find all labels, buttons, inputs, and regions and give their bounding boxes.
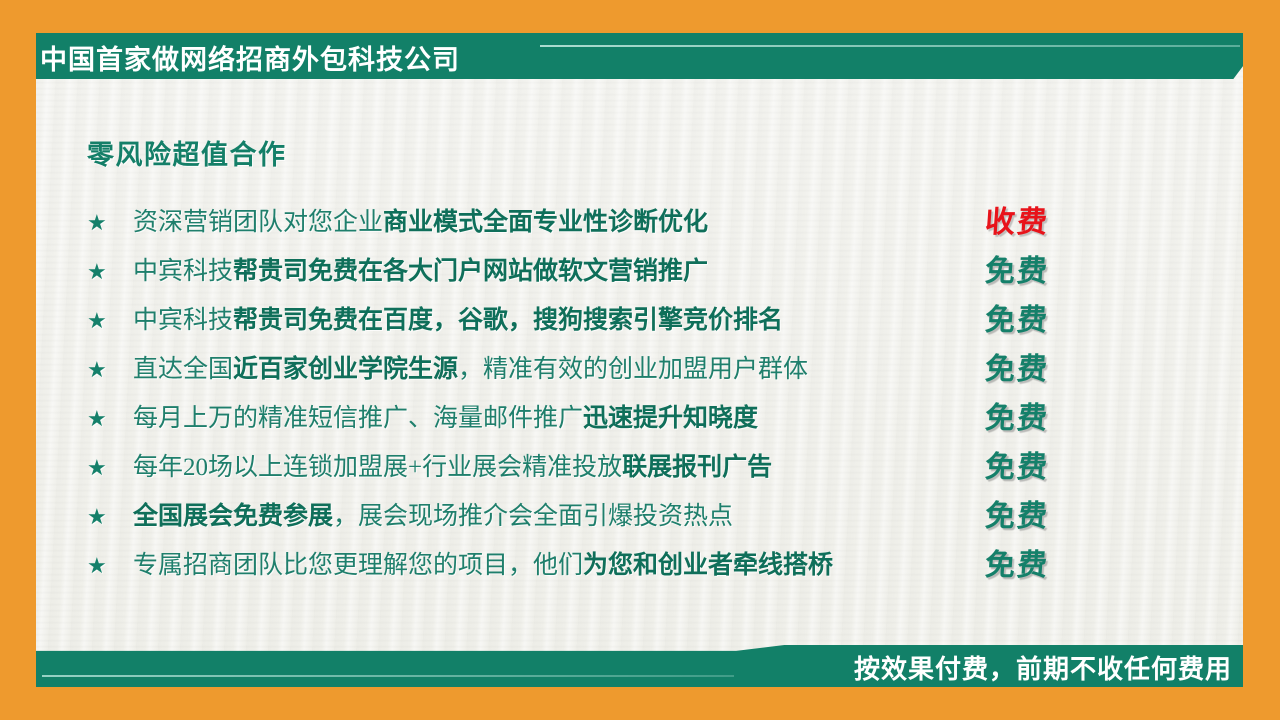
- text-normal-lead: 资深营销团队对您企业: [133, 209, 383, 236]
- text-normal-tail: ，展会现场推介会全面引爆投资热点: [333, 503, 733, 530]
- text-normal-lead: 中宾科技: [133, 258, 233, 285]
- list-item: ★专属招商团队比您更理解您的项目，他们为您和创业者牵线搭桥免费: [87, 541, 1147, 590]
- fee-badge: 免费: [941, 453, 1093, 483]
- fee-badge: 免费: [941, 355, 1093, 385]
- fee-badge: 免费: [941, 257, 1093, 287]
- text-emphasis: 为您和创业者牵线搭桥: [583, 552, 833, 579]
- list-item: ★资深营销团队对您企业商业模式全面专业性诊断优化收费: [87, 198, 1147, 247]
- benefits-list: ★资深营销团队对您企业商业模式全面专业性诊断优化收费★中宾科技帮贵司免费在各大门…: [87, 198, 1147, 590]
- list-item: ★每年20场以上连锁加盟展+行业展会精准投放联展报刊广告免费: [87, 443, 1147, 492]
- list-item: ★全国展会免费参展，展会现场推介会全面引爆投资热点免费: [87, 492, 1147, 541]
- text-normal-tail: ，精准有效的创业加盟用户群体: [458, 356, 808, 383]
- list-item: ★直达全国近百家创业学院生源，精准有效的创业加盟用户群体免费: [87, 345, 1147, 394]
- star-icon: ★: [87, 408, 133, 430]
- star-icon: ★: [87, 212, 133, 234]
- fee-badge: 收费: [941, 208, 1093, 238]
- text-emphasis: 联展报刊广告: [622, 454, 772, 481]
- fee-badge: 免费: [941, 404, 1093, 434]
- list-item: ★中宾科技帮贵司免费在各大门户网站做软文营销推广免费: [87, 247, 1147, 296]
- footer-tagline: 按效果付费，前期不收任何费用: [854, 647, 1232, 687]
- fee-badge: 免费: [941, 551, 1093, 581]
- star-icon: ★: [87, 506, 133, 528]
- header-title: 中国首家做网络招商外包科技公司: [38, 35, 460, 79]
- list-item: ★中宾科技帮贵司免费在百度，谷歌，搜狗搜索引擎竞价排名免费: [87, 296, 1147, 345]
- fee-badge: 免费: [941, 306, 1093, 336]
- text-emphasis: 迅速提升知晓度: [583, 405, 758, 432]
- text-emphasis: 全国展会免费参展: [133, 503, 333, 530]
- star-icon: ★: [87, 261, 133, 283]
- text-emphasis: 帮贵司免费在百度，谷歌，搜狗搜索引擎竞价排名: [233, 307, 783, 334]
- text-normal-lead: 直达全国: [133, 356, 233, 383]
- text-normal-lead: 每年20场以上连锁加盟展+行业展会精准投放: [133, 454, 622, 481]
- star-icon: ★: [87, 359, 133, 381]
- fee-badge: 免费: [941, 502, 1093, 532]
- text-emphasis: 近百家创业学院生源: [233, 356, 458, 383]
- text-normal-lead: 中宾科技: [133, 307, 233, 334]
- list-item: ★每月上万的精准短信推广、海量邮件推广迅速提升知晓度免费: [87, 394, 1147, 443]
- slide-canvas: 中国首家做网络招商外包科技公司 零风险超值合作 ★资深营销团队对您企业商业模式全…: [0, 0, 1280, 720]
- text-emphasis: 帮贵司免费在各大门户网站做软文营销推广: [233, 258, 708, 285]
- section-title: 零风险超值合作: [87, 133, 287, 172]
- footer-divider-line: [42, 675, 734, 677]
- header-divider-line: [540, 45, 1240, 47]
- star-icon: ★: [87, 555, 133, 577]
- text-normal-lead: 每月上万的精准短信推广、海量邮件推广: [133, 405, 583, 432]
- text-normal-lead: 专属招商团队比您更理解您的项目，他们: [133, 552, 583, 579]
- text-emphasis: 商业模式全面专业性诊断优化: [383, 209, 708, 236]
- star-icon: ★: [87, 310, 133, 332]
- star-icon: ★: [87, 457, 133, 479]
